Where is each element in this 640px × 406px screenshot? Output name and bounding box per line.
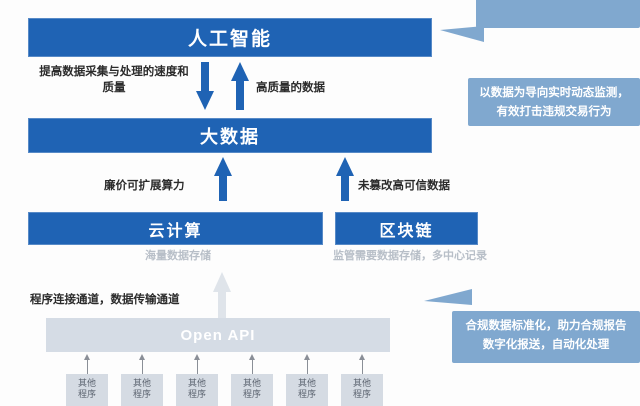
label-cloud-up-arrow: 廉价可扩展算力 [104,178,212,194]
arrow-head [213,272,231,292]
arrow-head [196,91,214,110]
arrow-shaft [236,80,244,110]
program-box-label: 其他 [286,378,328,389]
layer-cloud-computing[interactable]: 云计算 [28,212,323,245]
program-box-label-2: 程序 [341,389,383,400]
arrow-shaft [362,358,363,374]
label-ai-up-arrow: 高质量的数据 [256,80,376,96]
program-box-label: 其他 [121,378,163,389]
callout-regulation-tracking: 管法规信息跟踪与分析 [476,0,640,28]
program-box-label-2: 程序 [231,389,273,400]
arrow-up-program-to-openapi [358,354,367,374]
program-box[interactable]: 其他程序 [231,374,273,406]
arrow-shaft [219,175,227,201]
arrow-up-program-to-openapi [303,354,312,374]
arrow-head [336,157,354,176]
arrow-up-blockchain-to-bigdata [336,157,354,201]
arrow-shaft [87,358,88,374]
arrow-up-bigdata-to-ai [231,62,249,110]
arrow-shaft [252,358,253,374]
program-box-label-2: 程序 [66,389,108,400]
callout-3-tail [424,289,472,305]
diagram-canvas: 管法规信息跟踪与分析 以数据为导向实时动态监测，有效打击违规交易行为 合规数据标… [0,0,640,406]
arrow-up-program-to-openapi [138,354,147,374]
arrow-up-program-to-openapi [83,354,92,374]
program-box[interactable]: 其他程序 [66,374,108,406]
program-box-label: 其他 [66,378,108,389]
arrow-head [231,62,249,81]
label-blockchain-up-arrow: 未篡改高可信数据 [358,178,498,194]
program-box[interactable]: 其他程序 [341,374,383,406]
sublabel-cloud-computing: 海量数据存储 [118,249,238,264]
program-box-label: 其他 [231,378,273,389]
arrow-shaft [197,358,198,374]
arrow-shaft [341,175,349,201]
arrow-down-ai-to-bigdata [196,62,214,110]
callout-compliance-standardization: 合规数据标准化，助力合规报告数字化报送，自动化处理 [452,311,640,363]
arrow-shaft [142,358,143,374]
label-ai-down-arrow: 提高数据采集与处理的速度和质量 [38,64,190,96]
label-openapi-up-arrow: 程序连接通道，数据传输通道 [30,292,250,308]
program-box[interactable]: 其他程序 [176,374,218,406]
program-box-label-2: 程序 [176,389,218,400]
program-box-label: 其他 [341,378,383,389]
arrow-up-program-to-openapi [248,354,257,374]
program-box[interactable]: 其他程序 [121,374,163,406]
program-box-label: 其他 [176,378,218,389]
callout-realtime-monitoring: 以数据为导向实时动态监测，有效打击违规交易行为 [468,78,640,126]
layer-blockchain[interactable]: 区块链 [335,212,478,245]
layer-open-api[interactable]: Open API [46,318,390,352]
arrow-up-cloud-to-bigdata [214,157,232,201]
callout-1-tail [440,26,484,42]
layer-big-data[interactable]: 大数据 [28,118,432,153]
layer-artificial-intelligence[interactable]: 人工智能 [28,18,432,57]
arrow-shaft [307,358,308,374]
program-box[interactable]: 其他程序 [286,374,328,406]
program-box-label-2: 程序 [121,389,163,400]
arrow-up-program-to-openapi [193,354,202,374]
arrow-head [214,157,232,176]
program-box-label-2: 程序 [286,389,328,400]
sublabel-blockchain: 监管需要数据存储，多中心记录 [333,249,533,264]
arrow-shaft [201,62,209,92]
